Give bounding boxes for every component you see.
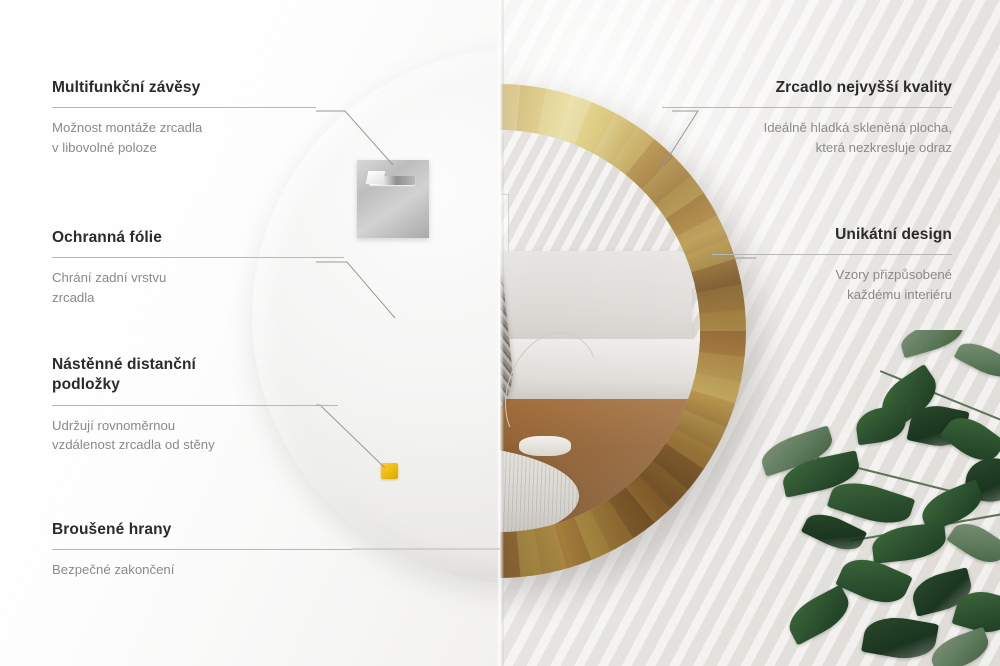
callout-desc: Možnost montáže zrcadla v libovolné polo… [52,118,332,156]
round-mirror [500,84,746,578]
callout-rule [52,549,352,550]
foliage-decoration [760,330,1000,666]
callout-multifunkcni-zavesy: Multifunkční závěsy Možnost montáže zrca… [52,78,332,157]
callout-desc-line: která nezkresluje odraz [662,138,952,157]
infographic-canvas: Multifunkční závěsy Možnost montáže zrca… [0,0,1000,666]
panel-divider-seam [497,0,504,666]
leaf [782,584,856,645]
callout-desc: Udržují rovnoměrnou vzdálenost zrcadla o… [52,416,342,454]
callout-title: Unikátní design [712,225,952,245]
callout-rule [712,254,952,255]
callout-rule [52,405,338,406]
bracket-tab [366,171,386,184]
callout-title-line: Nástěnné distanční [52,355,342,375]
callout-desc: Ideálně hladká skleněná plocha, která ne… [662,118,952,156]
callout-title: Multifunkční závěsy [52,78,332,98]
callout-desc: Vzory přizpůsobené každému interiéru [712,265,952,303]
callout-desc-line: Vzory přizpůsobené [712,265,952,284]
leaf [870,522,947,564]
callout-rule [662,107,952,108]
callout-title: Broušené hrany [52,520,352,540]
callout-title: Ochranná fólie [52,228,332,248]
leaf [854,405,908,446]
callout-desc-line: zrcadla [52,288,332,307]
callout-desc-line: Udržují rovnoměrnou [52,416,342,435]
mirror-glass [500,130,700,532]
callout-ochranna-folie: Ochranná fólie Chrání zadní vrstvu zrcad… [52,228,332,307]
callout-title: Zrcadlo nejvyšší kvality [662,78,952,98]
callout-desc-line: v libovolné poloze [52,138,332,157]
callout-brousene-hrany: Broušené hrany Bezpečné zakončení [52,520,352,580]
callout-desc-line: každému interiéru [712,285,952,304]
callout-desc-line: Bezpečné zakončení [52,560,352,579]
hanging-bracket [357,160,429,238]
callout-rule [52,107,316,108]
leaf [861,612,939,664]
leaf [954,336,1000,384]
callout-rule [52,257,344,258]
callout-desc-line: vzdálenost zrcadla od stěny [52,435,342,454]
yellow-spacer-pad [381,463,398,479]
callout-unikatni-design: Unikátní design Vzory přizpůsobené každé… [712,225,952,304]
callout-title-line: podložky [52,375,342,395]
callout-zrcadlo-nejvyssi-kvality: Zrcadlo nejvyšší kvality Ideálně hladká … [662,78,952,157]
callout-desc-line: Ideálně hladká skleněná plocha, [662,118,952,137]
callout-desc: Chrání zadní vrstvu zrcadla [52,268,332,306]
callout-desc-line: Možnost montáže zrcadla [52,118,332,137]
callout-desc: Bezpečné zakončení [52,560,352,579]
callout-title: Nástěnné distanční podložky [52,355,342,396]
callout-nastenne-distancni-podlozky: Nástěnné distanční podložky Udržují rovn… [52,355,342,454]
callout-desc-line: Chrání zadní vrstvu [52,268,332,287]
